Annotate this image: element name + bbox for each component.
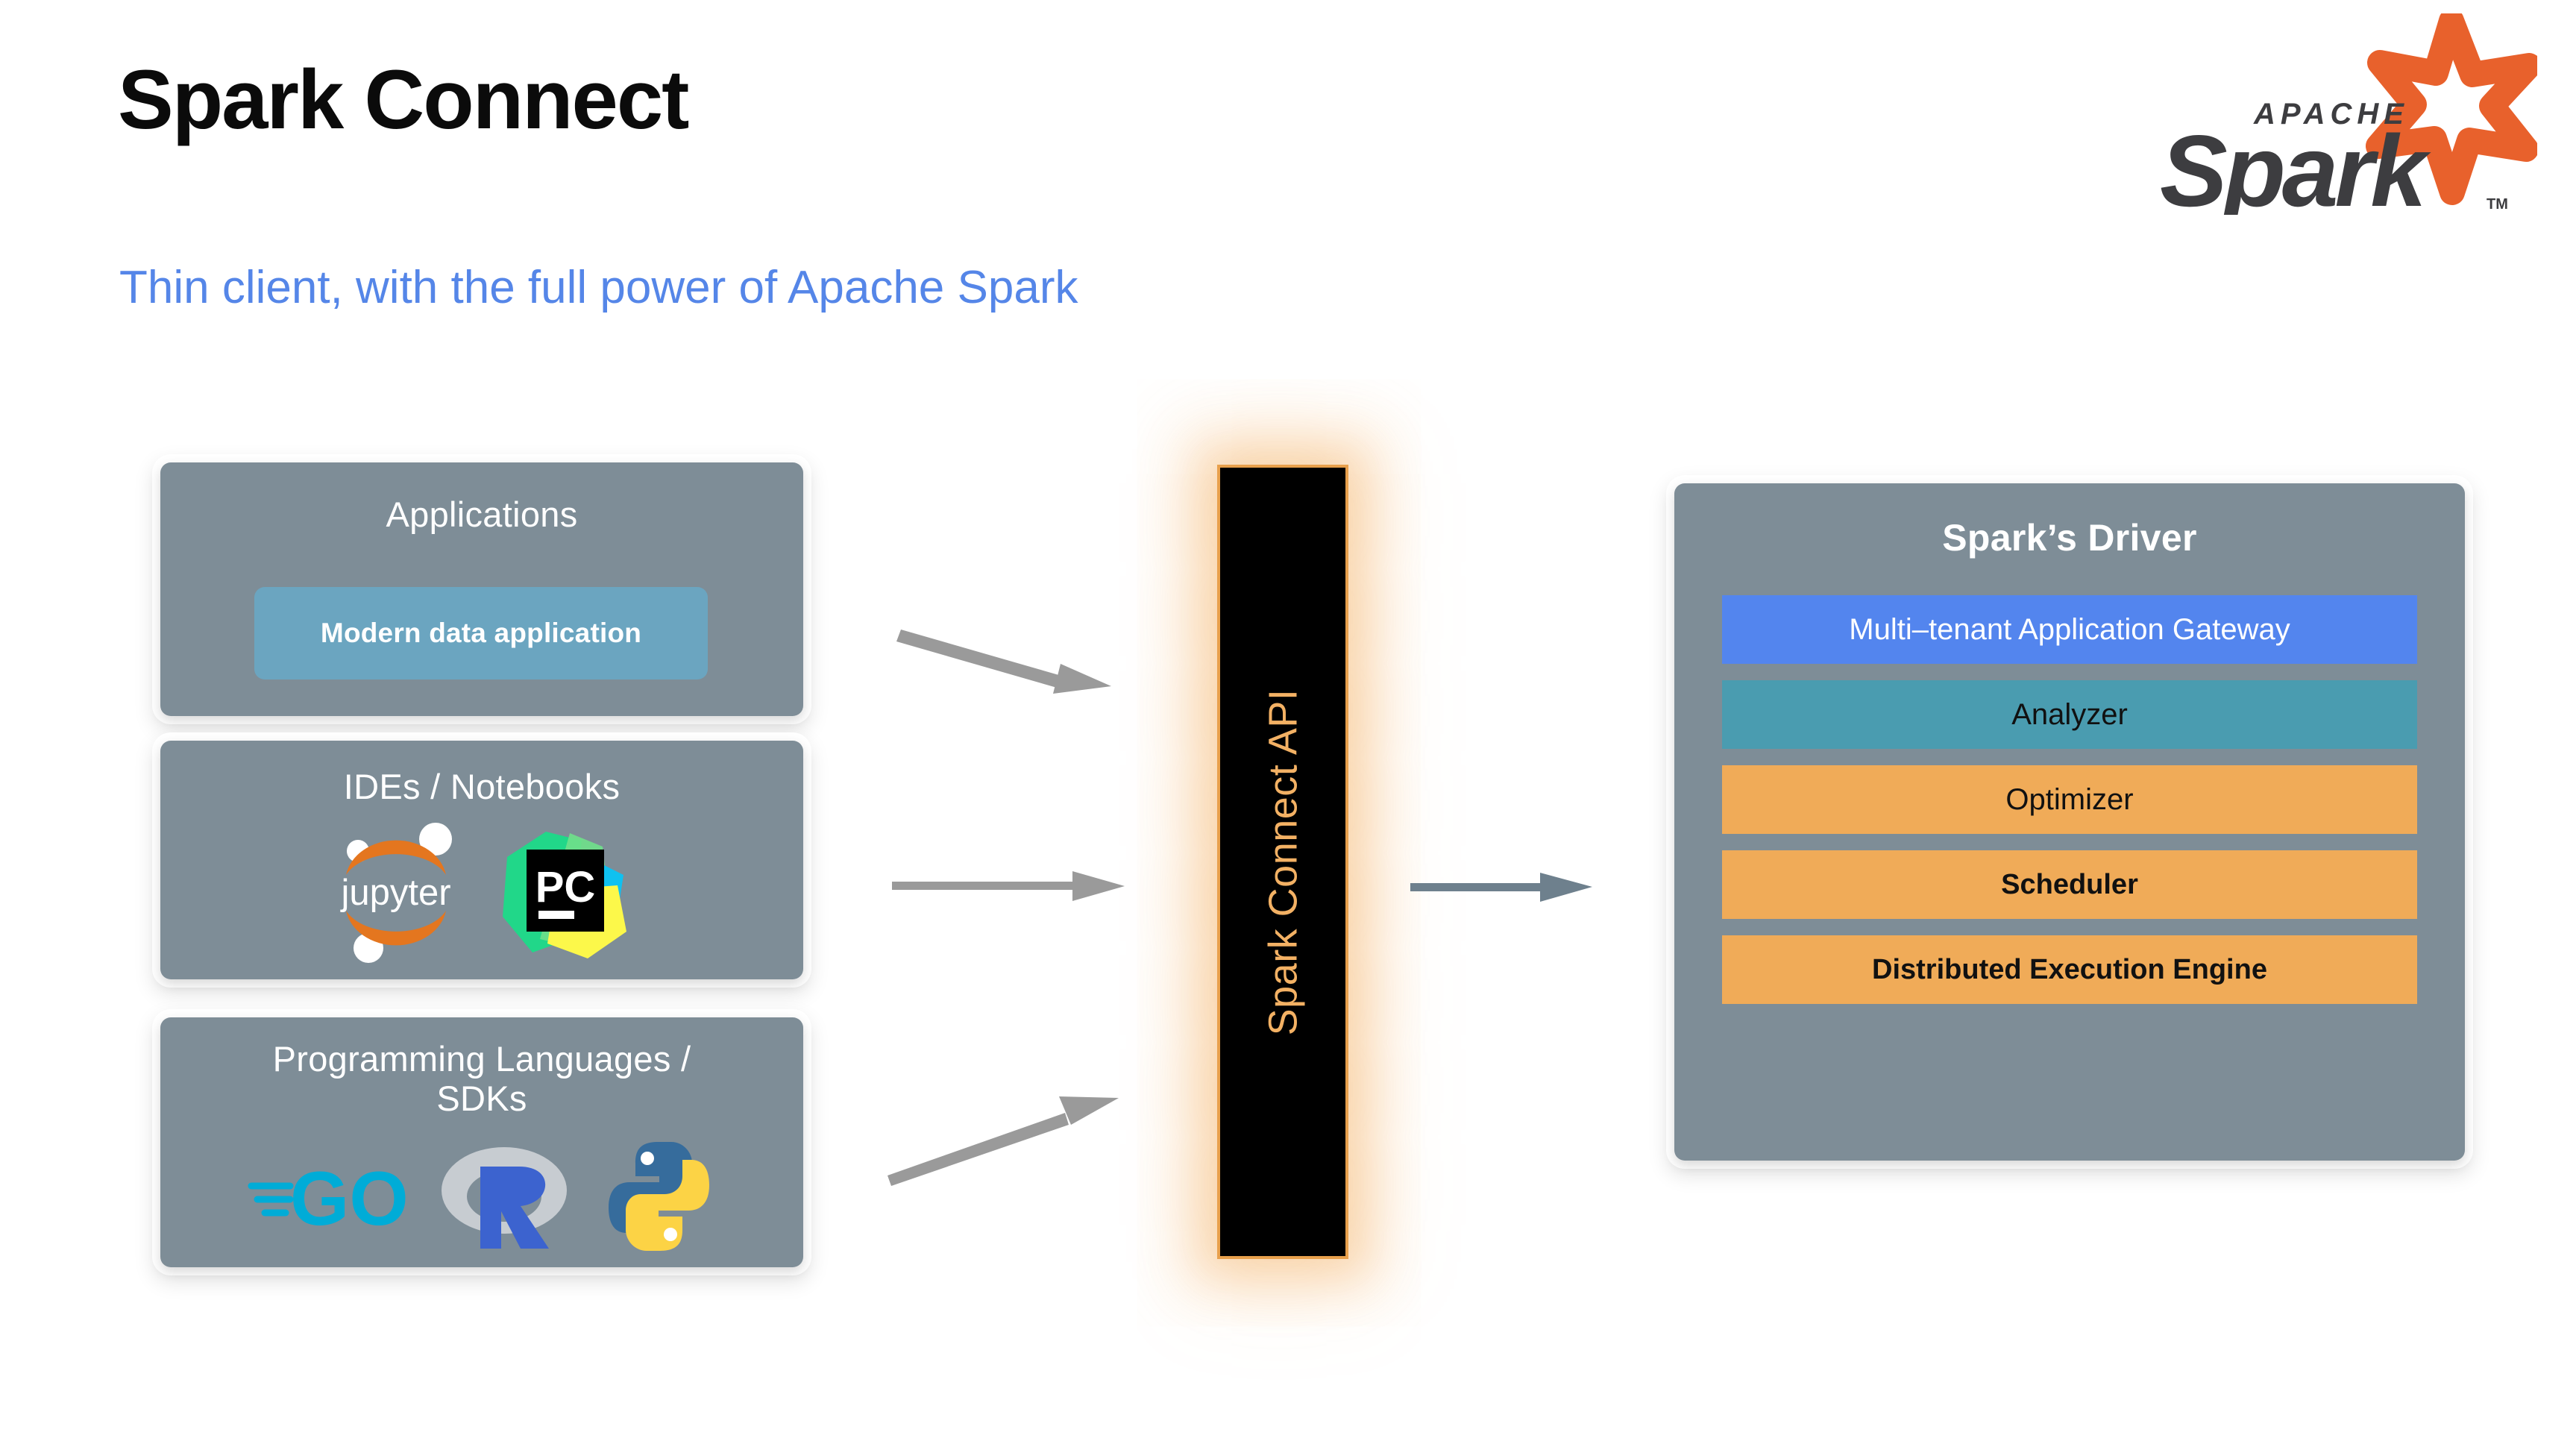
arrow-ides-to-api: [888, 865, 1208, 925]
page-title: Spark Connect: [118, 58, 688, 142]
svg-text:PC: PC: [535, 863, 596, 911]
go-icon: GO: [247, 1152, 407, 1241]
card-ides-title: IDEs / Notebooks: [160, 768, 803, 807]
svg-text:TM: TM: [2487, 196, 2508, 213]
r-icon: [437, 1137, 571, 1256]
arrow-applications-to-api: [888, 612, 1208, 716]
card-programming-languages[interactable]: Programming Languages / SDKs GO: [160, 1017, 803, 1267]
driver-row-execution-engine[interactable]: Distributed Execution Engine: [1722, 935, 2417, 1004]
ide-logo-row: jupyter PC: [160, 823, 803, 964]
spark-driver-panel[interactable]: Spark’s Driver Multi–tenant Application …: [1674, 483, 2465, 1161]
svg-text:GO: GO: [290, 1156, 407, 1241]
spark-connect-api-bar[interactable]: Spark Connect API: [1217, 465, 1348, 1259]
driver-row-scheduler[interactable]: Scheduler: [1722, 850, 2417, 919]
spark-connect-api-label: Spark Connect API: [1260, 688, 1306, 1035]
card-languages-title: Programming Languages / SDKs: [160, 1040, 803, 1118]
driver-row-analyzer[interactable]: Analyzer: [1722, 680, 2417, 749]
arrow-languages-to-api: [880, 1044, 1223, 1186]
driver-row-optimizer[interactable]: Optimizer: [1722, 765, 2417, 834]
language-logo-row: GO: [160, 1137, 803, 1256]
python-icon: [601, 1137, 717, 1255]
pill-modern-data-application[interactable]: Modern data application: [254, 587, 708, 679]
page-subtitle: Thin client, with the full power of Apac…: [119, 265, 1078, 311]
card-applications-title: Applications: [160, 495, 803, 535]
card-ides-notebooks[interactable]: IDEs / Notebooks jupyter PC: [160, 741, 803, 979]
jupyter-icon: jupyter: [333, 823, 459, 964]
card-applications[interactable]: Applications Modern data application: [160, 462, 803, 716]
spark-driver-title: Spark’s Driver: [1674, 516, 2465, 559]
apache-spark-logo: APACHE Spark TM: [2149, 13, 2537, 215]
svg-text:Spark: Spark: [2160, 114, 2431, 215]
pycharm-icon: PC: [498, 827, 631, 960]
arrow-api-to-driver: [1406, 865, 1644, 925]
driver-component-list: Multi–tenant Application Gateway Analyze…: [1722, 595, 2417, 1004]
driver-row-gateway[interactable]: Multi–tenant Application Gateway: [1722, 595, 2417, 664]
svg-text:jupyter: jupyter: [339, 873, 450, 913]
